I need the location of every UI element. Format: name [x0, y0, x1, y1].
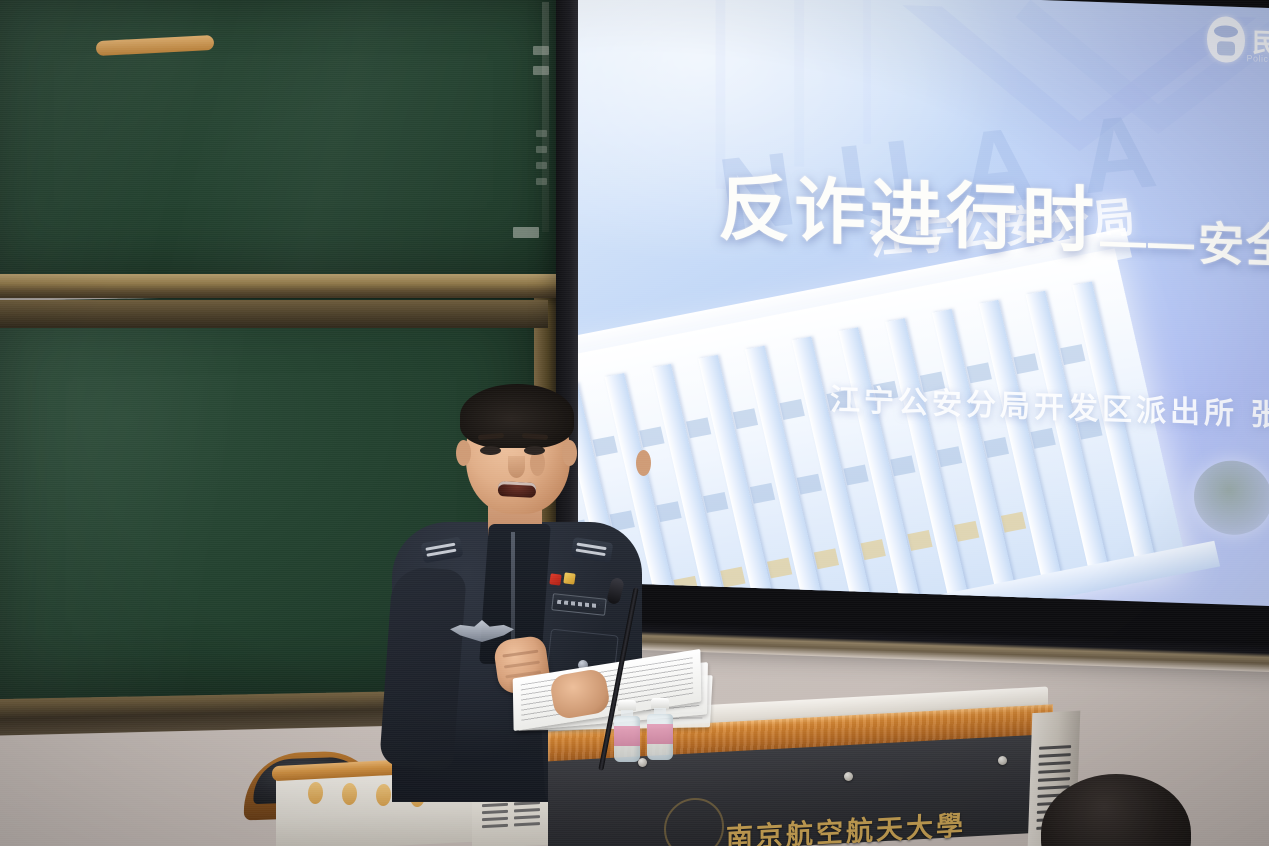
- chalkboard-mid-rail: [0, 300, 548, 328]
- slide-potted-plant-icon: [1194, 459, 1269, 536]
- officer-hair: [460, 384, 574, 448]
- eye-left: [480, 446, 501, 455]
- chalkboard-tab: [536, 178, 547, 185]
- chalkboard-slide-track: [542, 2, 549, 232]
- slide-building-illustration: [568, 139, 1247, 607]
- slide-title-dash: ——: [1100, 213, 1196, 270]
- bottle-label: [647, 724, 673, 744]
- chalkboard-tab: [536, 162, 547, 169]
- slide-watermark-text: 江宁公安分局: [865, 183, 1140, 267]
- slide-title-main: 反诈进行时: [718, 149, 1098, 267]
- gold-pin-icon: [563, 572, 575, 584]
- slide-title-sub: 安全教育讲: [1198, 207, 1269, 281]
- chalkboard: [0, 0, 568, 298]
- water-bottle: [645, 698, 675, 760]
- water-bottle: [612, 700, 642, 762]
- lecture-photo-scene: NUAA 江宁公安分局 反诈进行时——安全教育讲 江宁公安分局开发区派出所 张李…: [0, 0, 1269, 846]
- chalkboard-clip: [533, 46, 549, 55]
- projected-slide: NUAA 江宁公安分局 反诈进行时——安全教育讲 江宁公安分局开发区派出所 张李…: [568, 0, 1269, 607]
- chalk-tray: [0, 274, 568, 298]
- chalkboard-clip: [533, 66, 549, 75]
- projection-screen: NUAA 江宁公安分局 反诈进行时——安全教育讲 江宁公安分局开发区派出所 张李…: [556, 0, 1269, 659]
- slide-logo-character: 民: [1252, 22, 1269, 60]
- slide-backdrop-letters: NUAA: [712, 87, 1208, 256]
- chalkboard-tab: [536, 146, 547, 153]
- officer-ear-right: [562, 440, 577, 466]
- slide-organization-logo: 民 Police: [1207, 16, 1269, 64]
- bottle-label: [614, 726, 640, 746]
- slide-title-block: 反诈进行时——安全教育讲: [718, 149, 1269, 279]
- mouth-speaking: [498, 481, 537, 498]
- party-emblem-pin-icon: [549, 573, 561, 585]
- slide-chevron-motif: [568, 0, 1269, 269]
- slide-logo-subtext: Police: [1246, 53, 1269, 64]
- nose: [508, 456, 525, 478]
- chalkboard-surface: [0, 0, 559, 274]
- officer-ear-left: [456, 440, 471, 466]
- chalkboard-label-plate: [513, 227, 539, 238]
- police-emblem-icon: [1207, 16, 1245, 63]
- ear-right: [636, 450, 651, 476]
- podium-screw: [998, 756, 1007, 765]
- podium-screw: [844, 772, 853, 781]
- officer-left-arm: [379, 566, 467, 771]
- slide-presenter-line: 江宁公安分局开发区派出所 张李超: [830, 375, 1269, 437]
- eye-right: [524, 446, 545, 455]
- chalkboard-tab: [536, 130, 547, 137]
